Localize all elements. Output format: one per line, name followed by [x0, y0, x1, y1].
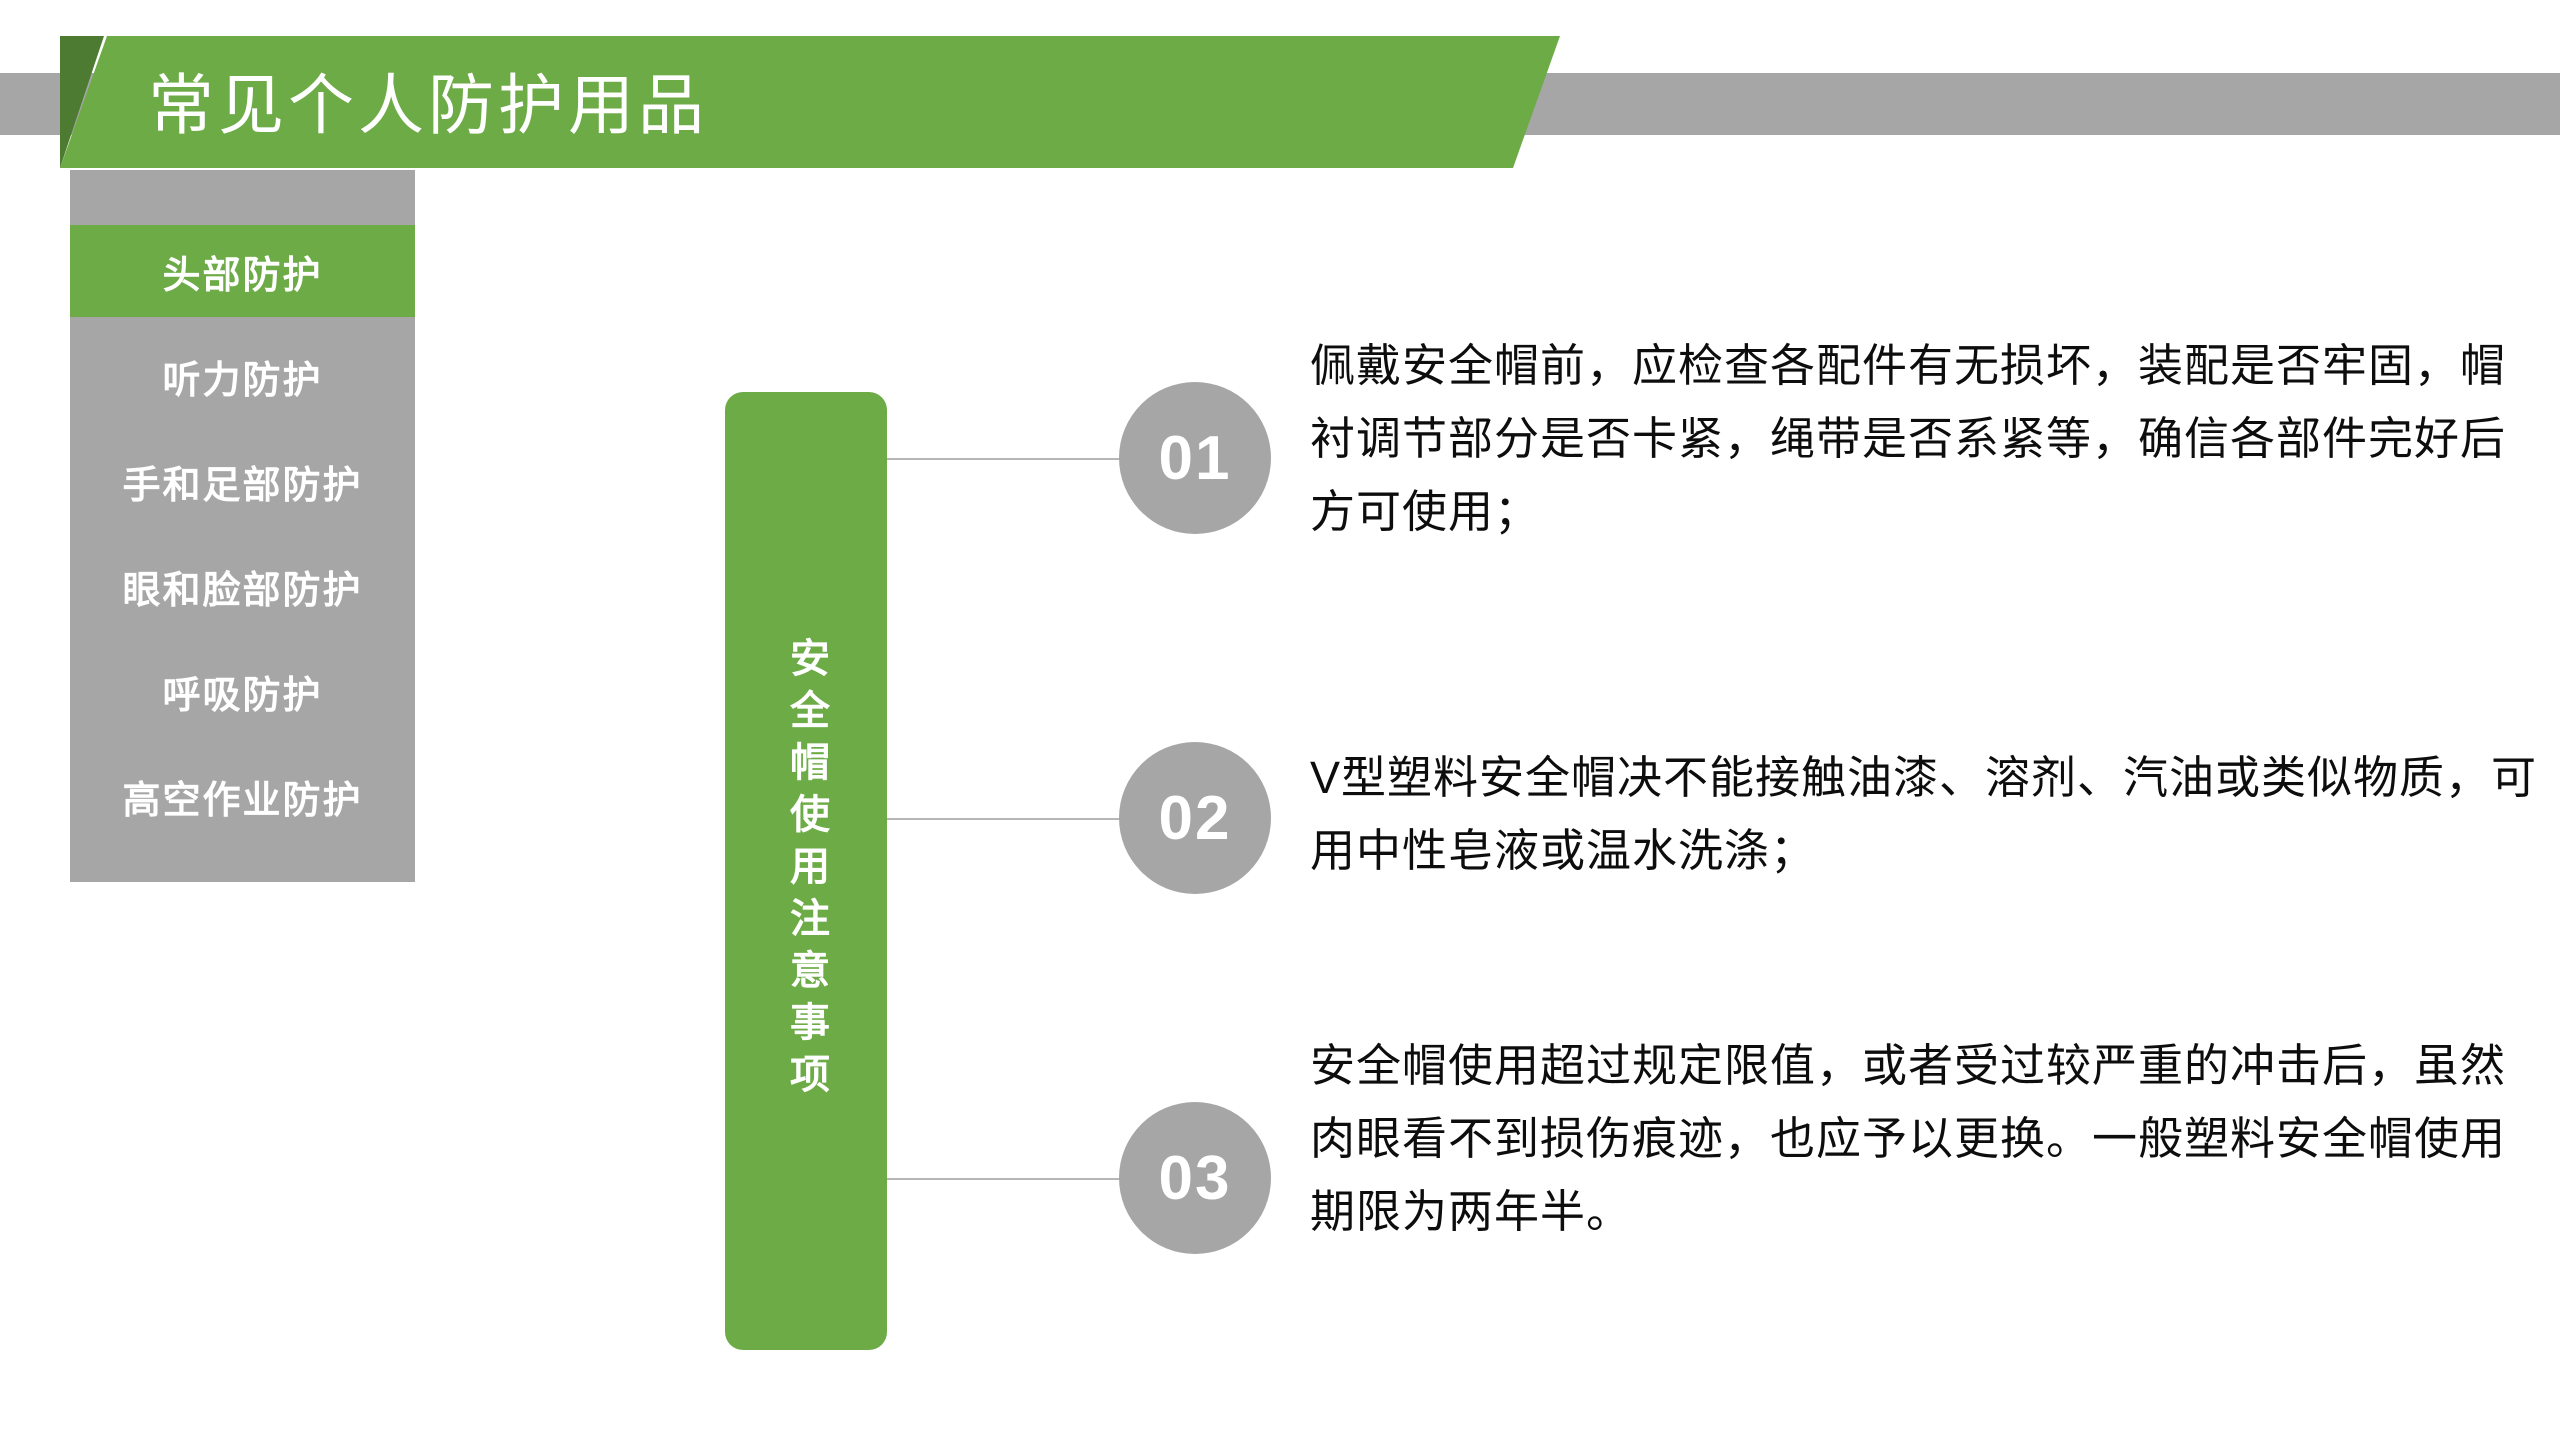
- step-text-02: V型塑料安全帽决不能接触油漆、溶剂、汽油或类似物质，可用中性皂液或温水洗涤；: [1310, 742, 2550, 888]
- sidebar-item-eye-face-protection[interactable]: 眼和脸部防护: [70, 540, 415, 632]
- step-number-badge-01: 01: [1119, 382, 1271, 534]
- page-title: 常见个人防护用品: [148, 52, 1348, 148]
- connector-line-03: [887, 1178, 1127, 1180]
- sidebar-panel: 头部防护 听力防护 手和足部防护 眼和脸部防护 呼吸防护 高空作业防护: [70, 170, 415, 882]
- sidebar-item-head-protection[interactable]: 头部防护: [70, 225, 415, 317]
- step-text-01: 佩戴安全帽前，应检查各配件有无损坏，装配是否牢固，帽衬调节部分是否卡紧，绳带是否…: [1310, 330, 2550, 549]
- vertical-label-text: 安全帽使用注意事项: [725, 392, 887, 1350]
- sidebar-item-hand-foot-protection[interactable]: 手和足部防护: [70, 435, 415, 527]
- sidebar-item-respiratory-protection[interactable]: 呼吸防护: [70, 645, 415, 737]
- step-number-badge-03: 03: [1119, 1102, 1271, 1254]
- connector-line-02: [887, 818, 1127, 820]
- sidebar-item-hearing-protection[interactable]: 听力防护: [70, 330, 415, 422]
- step-number-badge-02: 02: [1119, 742, 1271, 894]
- connector-line-01: [887, 458, 1127, 460]
- sidebar-item-height-work-protection[interactable]: 高空作业防护: [70, 750, 415, 842]
- step-text-03: 安全帽使用超过规定限值，或者受过较严重的冲击后，虽然肉眼看不到损伤痕迹，也应予以…: [1310, 1030, 2550, 1249]
